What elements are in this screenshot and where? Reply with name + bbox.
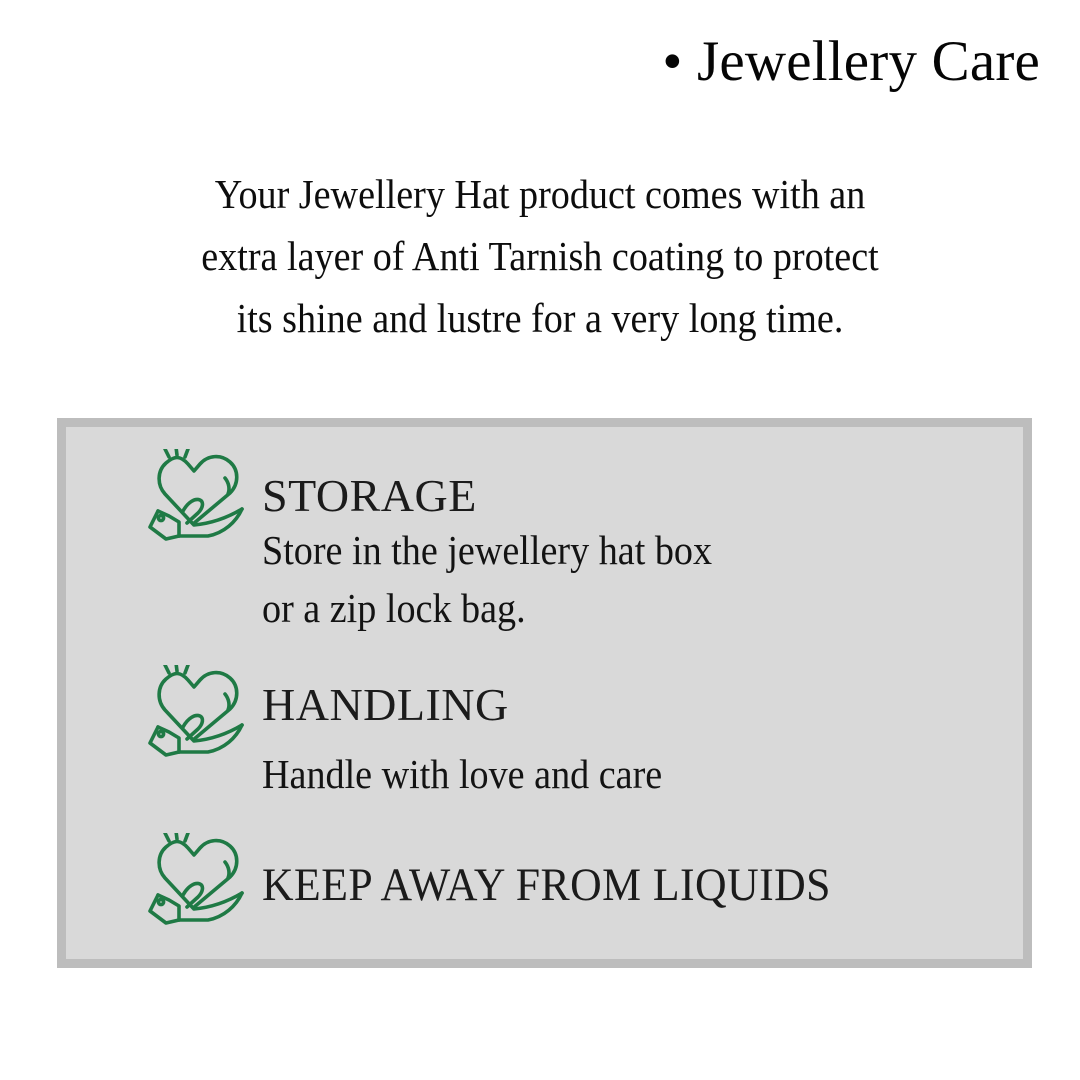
heart-in-hand-icon — [144, 449, 248, 547]
care-item-storage-text: STORAGE Store in the jewellery hat box o… — [262, 449, 746, 637]
intro-line-3: its shine and lustre for a very long tim… — [103, 287, 977, 349]
care-item-liquids-text: KEEP AWAY FROM LIQUIDS — [262, 833, 874, 911]
care-item-liquids-heading: KEEP AWAY FROM LIQUIDS — [262, 859, 831, 911]
intro-line-2: extra layer of Anti Tarnish coating to p… — [103, 225, 977, 287]
care-item-storage-heading: STORAGE — [262, 471, 746, 521]
intro-paragraph: Your Jewellery Hat product comes with an… — [70, 163, 1010, 349]
care-item-handling-heading: HANDLING — [262, 679, 692, 731]
care-instructions-list: STORAGE Store in the jewellery hat box o… — [66, 427, 1023, 959]
heart-in-hand-icon — [144, 833, 248, 931]
care-item-handling-desc-1: Handle with love and care — [262, 745, 662, 803]
jewellery-care-page: • Jewellery Care Your Jewellery Hat prod… — [0, 0, 1080, 1080]
care-item-storage-desc-1: Store in the jewellery hat box — [262, 521, 712, 579]
care-item-storage-desc-2: or a zip lock bag. — [262, 579, 712, 637]
care-item-liquids: KEEP AWAY FROM LIQUIDS — [144, 833, 874, 931]
care-item-handling-text: HANDLING Handle with love and care — [262, 665, 692, 803]
heart-in-hand-icon — [144, 665, 248, 763]
care-item-handling: HANDLING Handle with love and care — [144, 665, 692, 803]
care-item-storage: STORAGE Store in the jewellery hat box o… — [144, 449, 746, 637]
intro-line-1: Your Jewellery Hat product comes with an — [103, 163, 977, 225]
page-title-text: • Jewellery Care — [662, 30, 1040, 94]
page-title: • Jewellery Care — [0, 30, 1040, 94]
care-instructions-panel: STORAGE Store in the jewellery hat box o… — [57, 418, 1032, 968]
